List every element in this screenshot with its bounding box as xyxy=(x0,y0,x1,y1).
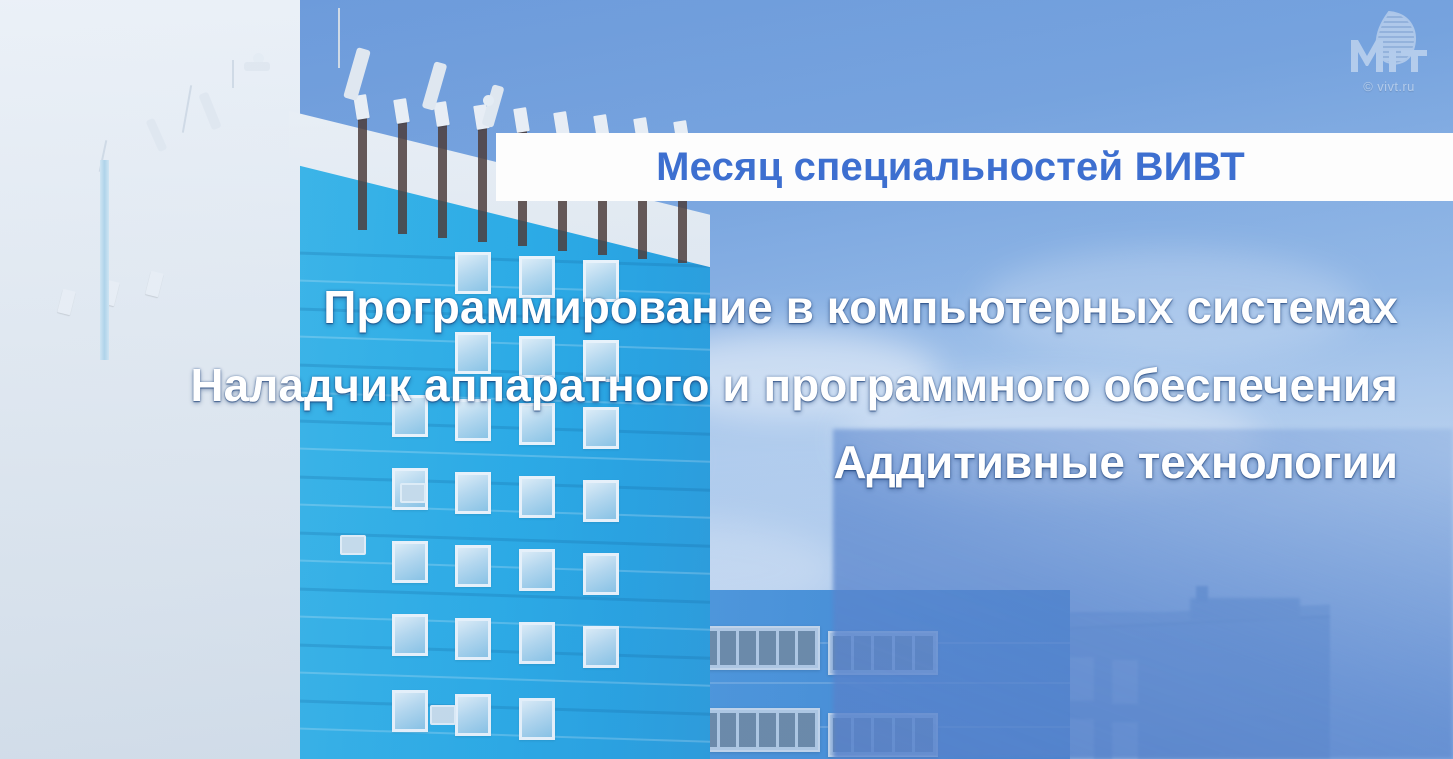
window xyxy=(455,252,491,294)
cloud xyxy=(980,250,1360,360)
window xyxy=(455,472,491,514)
roof-antenna xyxy=(232,60,234,88)
window xyxy=(519,698,555,740)
window xyxy=(519,476,555,518)
window xyxy=(583,480,619,522)
vivt-logo: © vivt.ru xyxy=(1343,6,1435,92)
logo-copyright-text: © vivt.ru xyxy=(1343,79,1435,94)
window xyxy=(392,395,428,437)
air-conditioner xyxy=(430,705,456,725)
roof-antenna xyxy=(244,62,270,71)
window xyxy=(455,694,491,736)
parapet-slot xyxy=(478,127,487,242)
window xyxy=(583,340,619,382)
window xyxy=(583,553,619,595)
window xyxy=(583,260,619,302)
window xyxy=(455,332,491,374)
window xyxy=(519,403,555,445)
parapet-slot xyxy=(358,118,367,230)
window xyxy=(392,614,428,656)
window xyxy=(455,399,491,441)
window xyxy=(519,622,555,664)
parapet-slot xyxy=(438,124,447,238)
window xyxy=(519,549,555,591)
roof-fin xyxy=(513,107,530,133)
window xyxy=(455,618,491,660)
main-tower-building xyxy=(0,0,760,759)
air-conditioner xyxy=(340,535,366,555)
title-banner: Месяц специальностей ВИВТ xyxy=(496,133,1453,201)
mit-leaf-icon xyxy=(1343,6,1435,78)
banner-title-text: Месяц специальностей ВИВТ xyxy=(656,147,1293,187)
air-conditioner xyxy=(400,483,426,503)
window xyxy=(455,545,491,587)
window xyxy=(583,626,619,668)
roof-fin xyxy=(393,98,410,124)
window xyxy=(519,336,555,378)
window xyxy=(392,690,428,732)
roof-antenna-ball xyxy=(483,95,494,106)
atmospheric-haze-overlay xyxy=(833,429,1453,759)
poster-root: Месяц специальностей ВИВТ Программирован… xyxy=(0,0,1453,759)
roof-antenna xyxy=(338,8,340,68)
window xyxy=(583,407,619,449)
window xyxy=(519,256,555,298)
tower-parapet-left xyxy=(0,0,300,759)
roof-mast xyxy=(100,160,109,360)
parapet-slot xyxy=(398,121,407,234)
roof-antenna xyxy=(343,47,371,101)
window xyxy=(392,541,428,583)
